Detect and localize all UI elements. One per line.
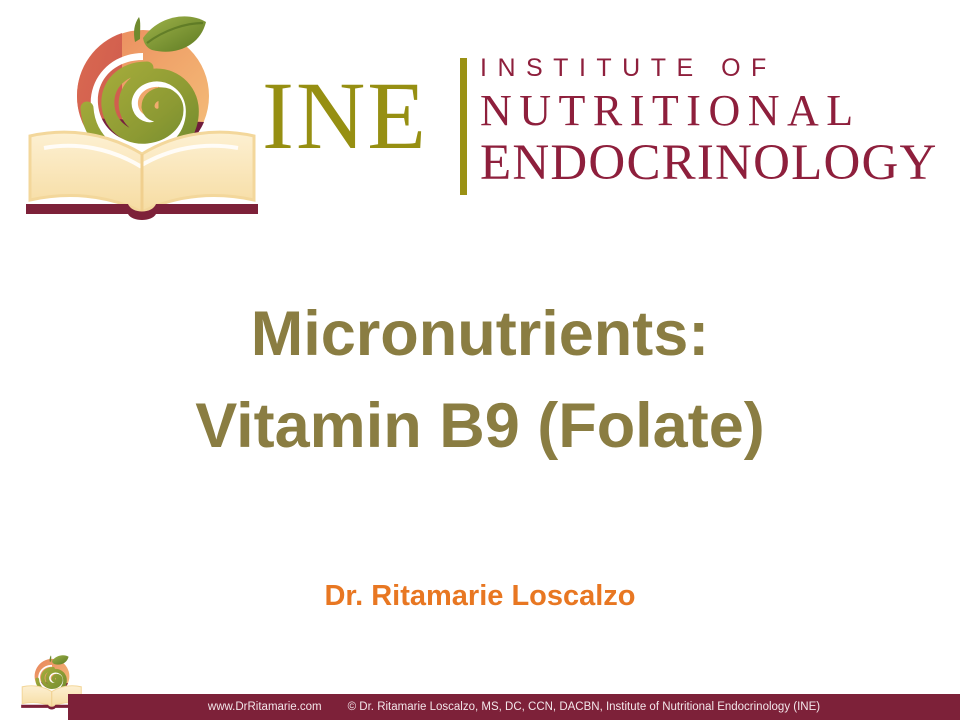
slide-title: Micronutrients: Vitamin B9 (Folate) — [0, 288, 960, 472]
ine-apple-book-logo-icon — [14, 8, 272, 220]
ine-wordmark: INE INSTITUTE OF NUTRITIONAL ENDOCRINOLO… — [262, 50, 960, 200]
slide-canvas: INE INSTITUTE OF NUTRITIONAL ENDOCRINOLO… — [0, 0, 960, 720]
ine-initials: INE — [262, 68, 428, 164]
wordmark-divider — [460, 58, 467, 195]
footer-bar: www.DrRitamarie.com © Dr. Ritamarie Losc… — [68, 694, 960, 720]
title-line-2: Vitamin B9 (Folate) — [0, 380, 960, 472]
title-line-1: Micronutrients: — [0, 288, 960, 380]
footer-copyright-text: © Dr. Ritamarie Loscalzo, MS, DC, CCN, D… — [348, 701, 820, 713]
wordmark-line-institute: INSTITUTE OF — [480, 50, 960, 86]
footer-content: www.DrRitamarie.com © Dr. Ritamarie Losc… — [68, 694, 960, 720]
wordmark-line-endocrinology: ENDOCRINOLOGY — [480, 136, 960, 190]
presenter-name: Dr. Ritamarie Loscalzo — [0, 578, 960, 614]
ine-logo-lockup: INE INSTITUTE OF NUTRITIONAL ENDOCRINOLO… — [14, 8, 954, 220]
wordmark-line-nutritional: NUTRITIONAL — [480, 86, 960, 136]
wordmark-text-lines: INSTITUTE OF NUTRITIONAL ENDOCRINOLOGY — [480, 50, 960, 190]
footer-website-link[interactable]: www.DrRitamarie.com — [208, 701, 322, 713]
